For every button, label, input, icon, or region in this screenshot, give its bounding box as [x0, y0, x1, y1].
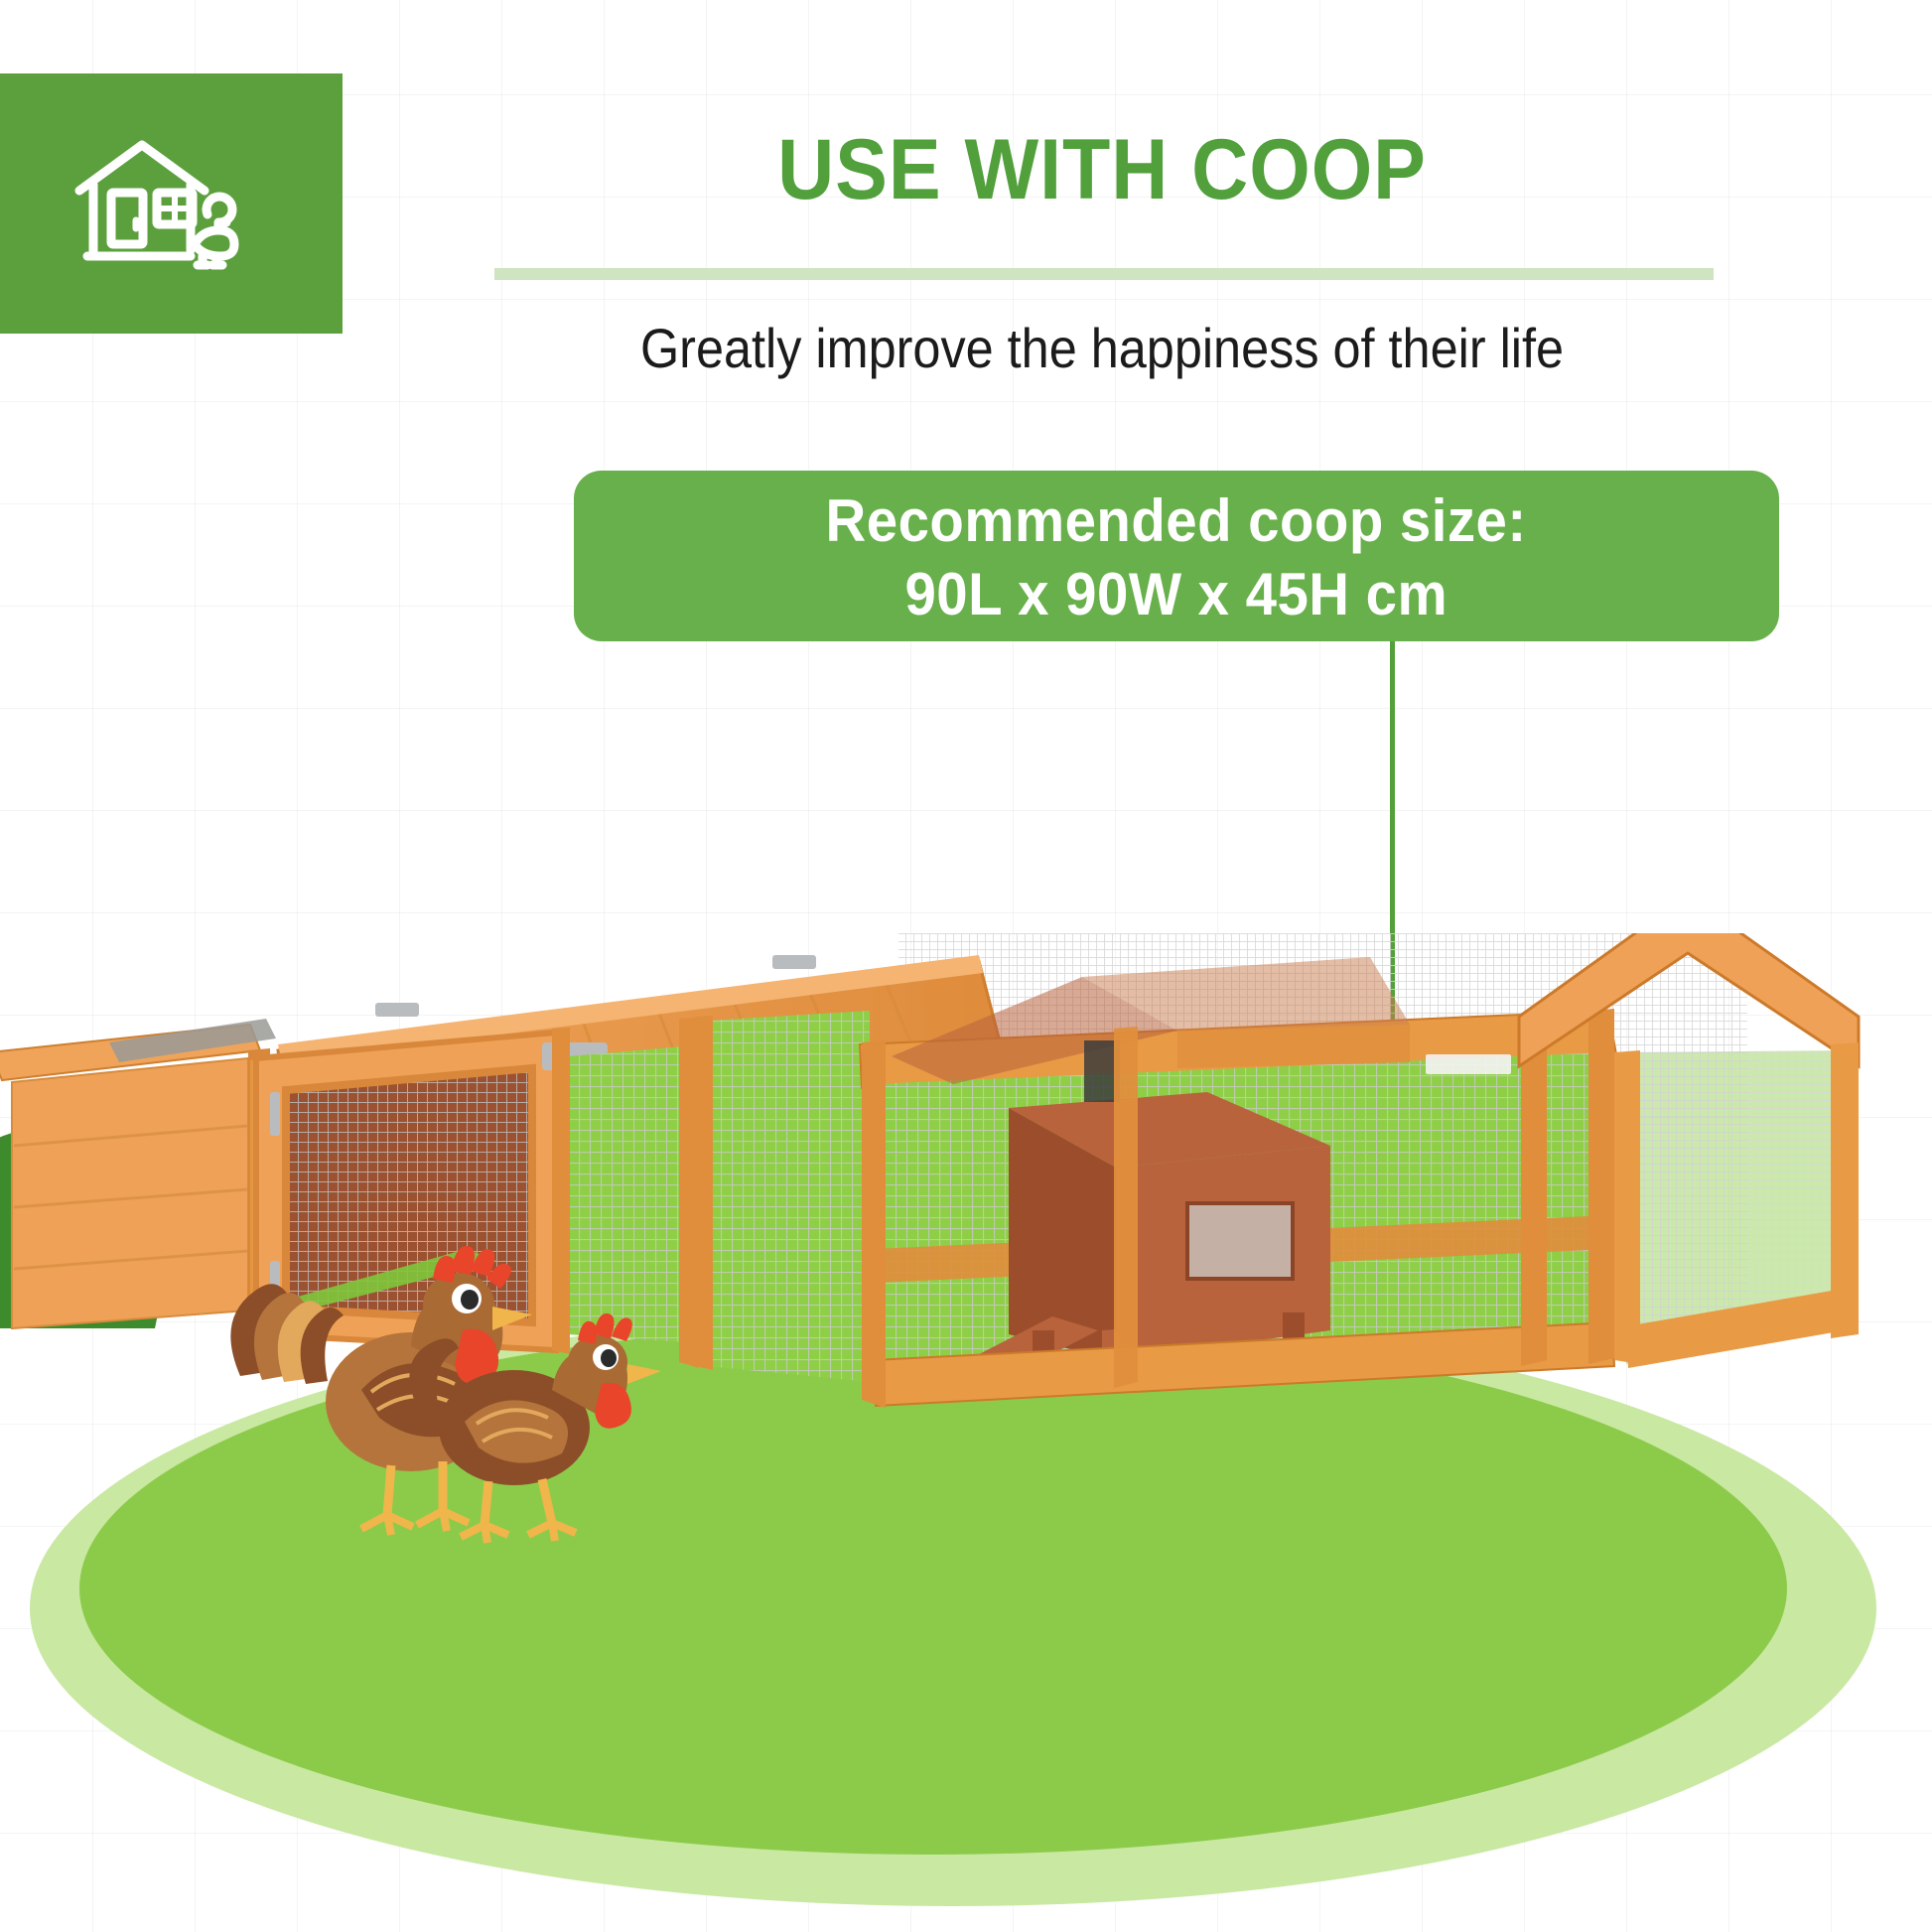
recommended-size-badge: Recommended coop size: 90L x 90W x 45H c… — [574, 471, 1779, 641]
badge-line-1: Recommended coop size: — [826, 484, 1527, 558]
coop-with-chicken-icon-tile — [0, 73, 343, 334]
house-third-bay — [695, 1011, 870, 1382]
coop-with-chicken-icon — [68, 129, 276, 278]
roof-hinge-right — [772, 955, 816, 969]
title-divider — [494, 268, 1714, 280]
door-hinge-top — [270, 1092, 280, 1136]
house-second-bay — [552, 1018, 699, 1368]
badge-line-2: 90L x 90W x 45H cm — [905, 558, 1449, 631]
page-title: USE WITH COOP — [481, 127, 1723, 212]
inner-coop-window — [1187, 1203, 1293, 1279]
page-subtitle: Greatly improve the happiness of their l… — [494, 318, 1710, 379]
product-photo-scene — [0, 933, 1932, 1932]
brand-sticker — [1426, 1054, 1511, 1074]
coop-illustration — [0, 933, 1932, 1932]
roof-hinge-left — [375, 1003, 419, 1017]
